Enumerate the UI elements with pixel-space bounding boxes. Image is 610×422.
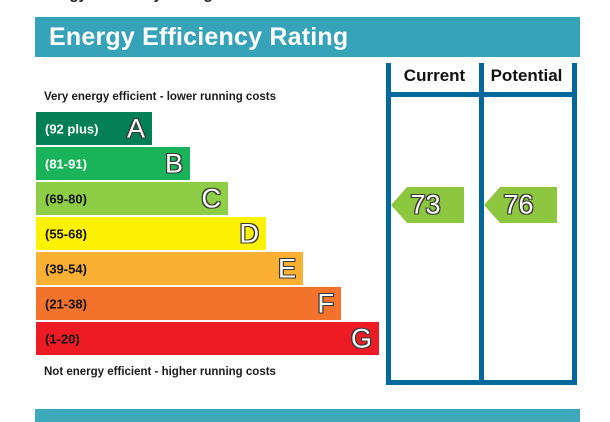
energy-efficiency-chart: Very energy efficient - lower running co… [0,0,610,422]
scale-note-efficient: Very energy efficient - lower running co… [44,91,276,103]
band-letter-label: B [165,150,183,177]
band-range-label: (39-54) [45,262,87,275]
column-header-rule [386,92,577,97]
rating-band-f: (21-38)F [36,287,341,320]
band-letter-label: D [240,220,260,247]
band-range-label: (81-91) [45,157,87,170]
energy-rating-footer-bar [35,409,580,422]
rating-band-c: (69-80)C [36,182,228,215]
column-header-current: Current [388,66,481,86]
rating-band-a: (92 plus)A [36,112,152,145]
rating-band-d: (55-68)D [36,217,266,250]
band-range-label: (69-80) [45,192,87,205]
band-letter-label: A [127,115,145,142]
rating-band-b: (81-91)B [36,147,190,180]
rating-band-g: (1-20)G [36,322,379,355]
band-range-label: (92 plus) [45,122,98,135]
potential-rating-arrow: 76 [484,187,557,223]
column-border-middle [479,63,484,385]
column-bottom-rule [386,380,577,385]
band-letter-label: G [351,325,372,352]
potential-rating-value: 76 [484,192,553,219]
scale-note-inefficient: Not energy efficient - higher running co… [44,366,276,378]
band-letter-label: F [318,290,335,317]
current-rating-arrow: 73 [391,187,464,223]
column-header-potential: Potential [480,66,573,86]
band-range-label: (21-38) [45,297,87,310]
column-border-right [572,63,577,385]
band-letter-label: E [278,255,296,282]
column-border-left [386,63,391,385]
rating-columns-frame: Current Potential [386,63,577,385]
rating-band-e: (39-54)E [36,252,303,285]
band-letter-label: C [202,185,222,212]
current-rating-value: 73 [391,192,460,219]
band-range-label: (1-20) [45,332,80,345]
band-range-label: (55-68) [45,227,87,240]
